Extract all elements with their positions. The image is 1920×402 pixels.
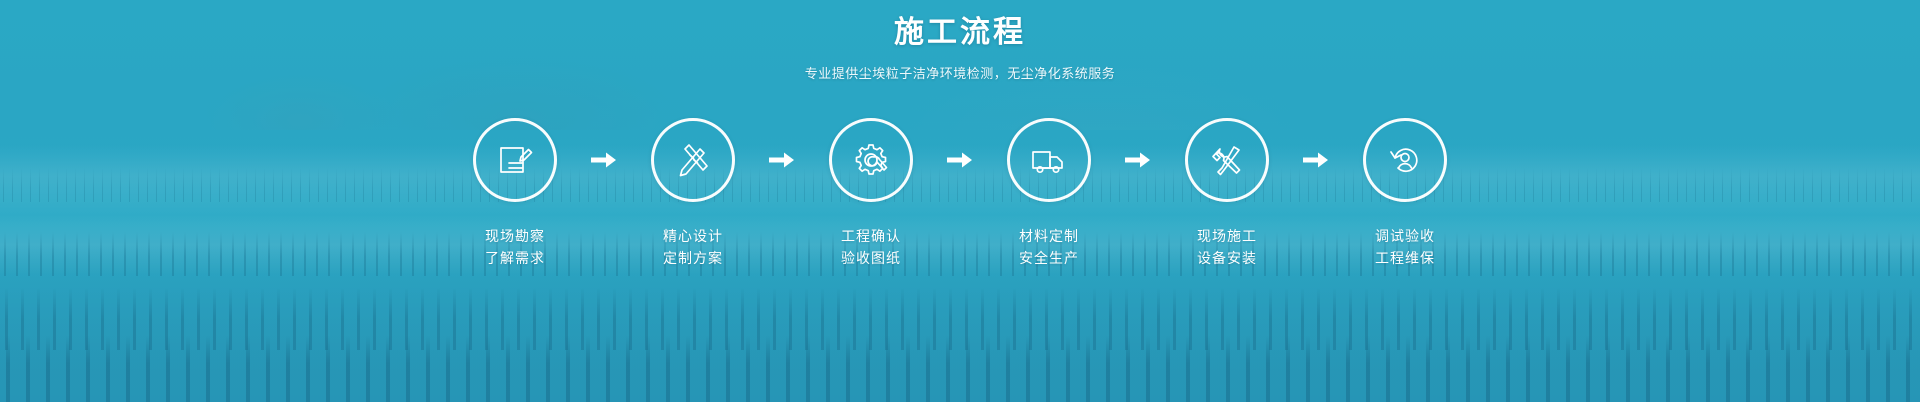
flow-step-5-line2: 设备安装: [1197, 248, 1257, 270]
flow-step-4-line2: 安全生产: [1019, 248, 1079, 270]
flow-step-5-label: 现场施工 设备安装: [1197, 226, 1257, 269]
flow-step-2-circle[interactable]: [651, 118, 735, 202]
flow-step-1-line2: 了解需求: [485, 248, 545, 270]
arrow-right-icon-3: [926, 118, 994, 202]
screwdriver-wrench-icon: [1206, 139, 1248, 181]
flow-step-5-line1: 现场施工: [1197, 226, 1257, 248]
flow-step-2-label: 精心设计 定制方案: [663, 226, 723, 269]
flow-step-6-circle[interactable]: [1363, 118, 1447, 202]
delivery-truck-icon: [1028, 139, 1070, 181]
gear-wrench-icon: [850, 139, 892, 181]
flow-step-4-line1: 材料定制: [1019, 226, 1079, 248]
flow-step-4[interactable]: 材料定制 安全生产: [994, 118, 1104, 269]
flow-step-6-line2: 工程维保: [1375, 248, 1435, 270]
flow-step-5-circle[interactable]: [1185, 118, 1269, 202]
flow-step-4-circle[interactable]: [1007, 118, 1091, 202]
flow-step-6-line1: 调试验收: [1375, 226, 1435, 248]
flow-step-1-label: 现场勘察 了解需求: [485, 226, 545, 269]
flow-step-6-label: 调试验收 工程维保: [1375, 226, 1435, 269]
arrow-right-icon-5: [1282, 118, 1350, 202]
document-pencil-icon: [494, 139, 536, 181]
flow-step-3[interactable]: 工程确认 验收图纸: [816, 118, 926, 269]
flow-step-5[interactable]: 现场施工 设备安装: [1172, 118, 1282, 269]
flow-step-2-line2: 定制方案: [663, 248, 723, 270]
flow-step-6[interactable]: 调试验收 工程维保: [1350, 118, 1460, 269]
flow-step-1[interactable]: 现场勘察 了解需求: [460, 118, 570, 269]
flow-step-3-line1: 工程确认: [841, 226, 901, 248]
flow-step-4-label: 材料定制 安全生产: [1019, 226, 1079, 269]
flow-step-2[interactable]: 精心设计 定制方案: [638, 118, 748, 269]
flow-step-1-line1: 现场勘察: [485, 226, 545, 248]
flow-step-3-line2: 验收图纸: [841, 248, 901, 270]
arrow-right-icon-2: [748, 118, 816, 202]
section-header: 施工流程 专业提供尘埃粒子洁净环境检测，无尘净化系统服务: [0, 16, 1920, 82]
pencil-ruler-icon: [672, 139, 714, 181]
flow-step-3-label: 工程确认 验收图纸: [841, 226, 901, 269]
page-title: 施工流程: [0, 16, 1920, 49]
flow-step-2-line1: 精心设计: [663, 226, 723, 248]
user-refresh-icon: [1384, 139, 1426, 181]
process-flow: 现场勘察 了解需求 精心设计 定制方案: [0, 118, 1920, 269]
page-subtitle: 专业提供尘埃粒子洁净环境检测，无尘净化系统服务: [0, 63, 1920, 82]
flow-step-1-circle[interactable]: [473, 118, 557, 202]
flow-step-3-circle[interactable]: [829, 118, 913, 202]
arrow-right-icon-4: [1104, 118, 1172, 202]
arrow-right-icon-1: [570, 118, 638, 202]
